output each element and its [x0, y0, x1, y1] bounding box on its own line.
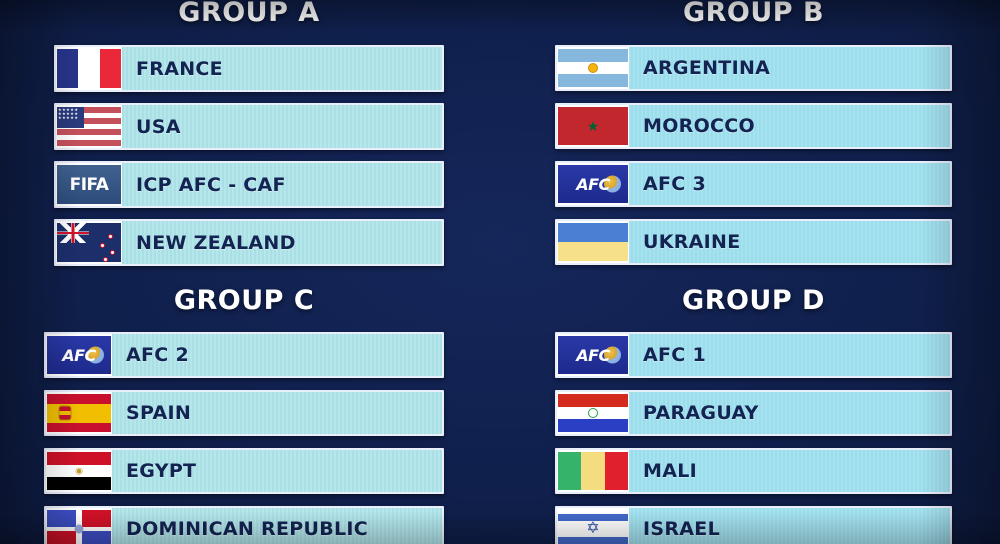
flag-ukraine-icon — [557, 221, 629, 263]
team-name: AFC 3 — [629, 163, 950, 205]
team-name: AFC 1 — [629, 334, 950, 376]
afc-logo-text: AFC — [576, 175, 610, 194]
group-title-b: GROUP B — [555, 0, 952, 28]
star-of-david-icon: ✡ — [586, 521, 599, 537]
afc-logo-text: AFC — [62, 346, 96, 365]
morocco-star: ★ — [587, 119, 600, 133]
paraguay-emblem — [588, 408, 598, 418]
team-name: MALI — [629, 450, 950, 492]
team-name: PARAGUAY — [629, 392, 950, 434]
group-panel-a: GROUP A FRANCE ★★★★★★★★★★★★★★★ USA — [54, 0, 444, 277]
team-name: ICP AFC - CAF — [122, 163, 442, 206]
team-row[interactable]: ARGENTINA — [555, 45, 952, 91]
team-row[interactable]: SPAIN — [44, 390, 444, 436]
afc-logo-text: AFC — [576, 346, 610, 365]
flag-new-zealand-icon — [56, 221, 122, 264]
team-row[interactable]: AFC AFC 3 — [555, 161, 952, 207]
team-row[interactable]: FIFA ICP AFC - CAF — [54, 161, 444, 208]
team-name: USA — [122, 105, 442, 148]
flag-dominican-republic-icon — [46, 508, 112, 544]
group-title-a: GROUP A — [54, 0, 444, 28]
egypt-eagle: ◉ — [75, 467, 83, 476]
afc-logo-icon: AFC — [46, 334, 112, 376]
fifa-logo-text: FIFA — [70, 175, 109, 195]
group-title-c: GROUP C — [44, 286, 444, 316]
team-name: NEW ZEALAND — [122, 221, 442, 264]
usa-canton: ★★★★★★★★★★★★★★★ — [57, 107, 84, 128]
group-panel-d: GROUP D AFC AFC 1 PARAGUAY — [555, 286, 952, 544]
team-row[interactable]: MALI — [555, 448, 952, 494]
flag-morocco-icon: ★ — [557, 105, 629, 147]
team-row[interactable]: PARAGUAY — [555, 390, 952, 436]
flag-usa-icon: ★★★★★★★★★★★★★★★ — [56, 105, 122, 148]
team-row[interactable]: AFC AFC 2 — [44, 332, 444, 378]
flag-mali-icon — [557, 450, 629, 492]
team-name: DOMINICAN REPUBLIC — [112, 508, 442, 544]
team-row[interactable]: ★ MOROCCO — [555, 103, 952, 149]
flag-paraguay-icon — [557, 392, 629, 434]
team-row[interactable]: ✡ ISRAEL — [555, 506, 952, 544]
flag-israel-icon: ✡ — [557, 508, 629, 544]
flag-spain-icon — [46, 392, 112, 434]
flag-egypt-icon: ◉ — [46, 450, 112, 492]
team-row[interactable]: UKRAINE — [555, 219, 952, 265]
team-name: FRANCE — [122, 47, 442, 90]
team-name: ARGENTINA — [629, 47, 950, 89]
argentina-sun — [589, 64, 597, 72]
team-name: ISRAEL — [629, 508, 950, 544]
afc-logo-icon: AFC — [557, 334, 629, 376]
group-panel-c: GROUP C AFC AFC 2 — [44, 286, 444, 544]
team-row[interactable]: AFC AFC 1 — [555, 332, 952, 378]
team-name: EGYPT — [112, 450, 442, 492]
team-name: MOROCCO — [629, 105, 950, 147]
team-row[interactable]: NEW ZEALAND — [54, 219, 444, 266]
team-name: SPAIN — [112, 392, 442, 434]
spain-crest — [59, 407, 70, 420]
fifa-logo-icon: FIFA — [56, 163, 122, 206]
team-row[interactable]: FRANCE — [54, 45, 444, 92]
flag-argentina-icon — [557, 47, 629, 89]
draw-board: GROUP A FRANCE ★★★★★★★★★★★★★★★ USA — [0, 0, 1000, 544]
team-row[interactable]: ★★★★★★★★★★★★★★★ USA — [54, 103, 444, 150]
group-panel-b: GROUP B ARGENTINA ★ MOROCCO AFC — [555, 0, 952, 277]
team-name: UKRAINE — [629, 221, 950, 263]
flag-france-icon — [56, 47, 122, 90]
team-row[interactable]: ◉ EGYPT — [44, 448, 444, 494]
team-row[interactable]: DOMINICAN REPUBLIC — [44, 506, 444, 544]
afc-logo-icon: AFC — [557, 163, 629, 205]
group-title-d: GROUP D — [555, 286, 952, 316]
team-name: AFC 2 — [112, 334, 442, 376]
